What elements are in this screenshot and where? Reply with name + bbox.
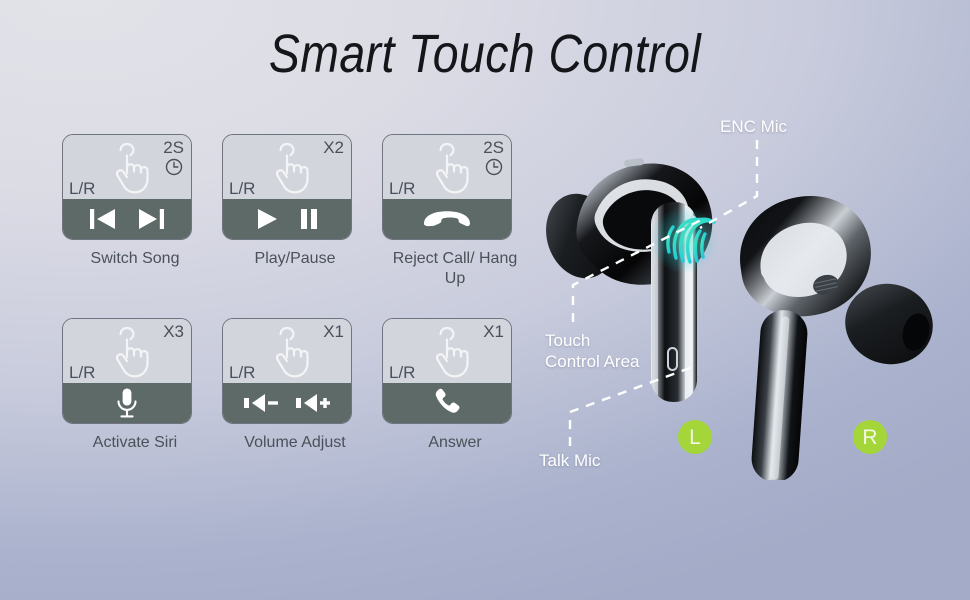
touch-fingerprint-icon [650, 206, 718, 274]
badge-label: 2S [483, 138, 504, 157]
card-bottom [383, 383, 511, 423]
card-body: X3 L/R [62, 318, 192, 424]
card-bottom [63, 383, 191, 423]
badge-tap-count: X2 [323, 138, 344, 157]
callout-touch-control-area: Touch Control Area [545, 330, 640, 372]
card-body: X1 L/R [222, 318, 352, 424]
badge-label: X1 [483, 322, 504, 341]
badge-duration: 2S [163, 138, 184, 177]
card-caption: Volume Adjust [222, 433, 368, 453]
badge-duration: 2S [483, 138, 504, 177]
clock-icon [484, 157, 504, 177]
card-body: X2 L/R [222, 134, 352, 240]
lr-label: L/R [389, 179, 415, 198]
card-bottom [383, 199, 511, 239]
tap-hand-icon [421, 325, 481, 381]
clock-icon [164, 157, 184, 177]
lr-label: L/R [69, 363, 95, 382]
card-bottom [223, 199, 351, 239]
gesture-card-reject-call[interactable]: 2S [382, 134, 542, 289]
card-caption: Reject Call/ Hang Up [382, 249, 528, 289]
card-bottom [63, 199, 191, 239]
infographic-canvas: Smart Touch Control 2S [0, 0, 970, 600]
card-caption: Play/Pause [222, 249, 368, 269]
card-top: X2 L/R [223, 135, 351, 199]
lr-label: L/R [69, 179, 95, 198]
gesture-card-switch-song[interactable]: 2S [62, 134, 222, 289]
gesture-card-grid: 2S [62, 134, 542, 453]
card-top: 2S [63, 135, 191, 199]
gesture-card-volume-adjust[interactable]: X1 L/R [222, 318, 382, 453]
tap-hand-icon [261, 325, 321, 381]
badge-tap-count: X3 [163, 322, 184, 341]
play-icon [252, 206, 282, 232]
volume-down-icon [242, 391, 280, 415]
card-body: 2S [62, 134, 192, 240]
next-track-icon [134, 206, 168, 232]
gesture-card-row-2: X3 L/R [62, 318, 542, 453]
lr-label: L/R [229, 179, 255, 198]
lr-label: L/R [229, 363, 255, 382]
previous-track-icon [86, 206, 120, 232]
hang-up-icon [420, 206, 474, 232]
badge-tap-count: X1 [323, 322, 344, 341]
right-earbud-badge: R [853, 420, 887, 454]
card-bottom [223, 383, 351, 423]
tap-hand-icon [261, 141, 321, 197]
callout-talk-mic: Talk Mic [539, 450, 600, 471]
gesture-card-row-1: 2S [62, 134, 542, 289]
card-top: X1 L/R [383, 319, 511, 383]
tap-hand-icon [101, 141, 161, 197]
card-top: X1 L/R [223, 319, 351, 383]
microphone-icon [114, 387, 140, 419]
page-title: Smart Touch Control [68, 22, 902, 86]
gesture-card-answer[interactable]: X1 L/R [382, 318, 542, 453]
earbuds-illustration [545, 140, 970, 480]
tap-hand-icon [101, 325, 161, 381]
card-caption: Activate Siri [62, 433, 208, 453]
lr-label: L/R [389, 363, 415, 382]
card-caption: Answer [382, 433, 528, 453]
right-earbud [740, 196, 941, 480]
callout-enc-mic: ENC Mic [720, 116, 787, 137]
gesture-card-play-pause[interactable]: X2 L/R [222, 134, 382, 289]
volume-up-icon [294, 391, 332, 415]
phone-handset-icon [432, 388, 462, 418]
card-top: X3 L/R [63, 319, 191, 383]
card-top: 2S [383, 135, 511, 199]
card-body: 2S [382, 134, 512, 240]
badge-tap-count: X1 [483, 322, 504, 341]
badge-label: 2S [163, 138, 184, 157]
badge-label: X2 [323, 138, 344, 157]
tap-hand-icon [421, 141, 481, 197]
pause-icon [296, 206, 322, 232]
left-earbud-badge: L [678, 420, 712, 454]
card-caption: Switch Song [62, 249, 208, 269]
card-body: X1 L/R [382, 318, 512, 424]
badge-label: X1 [323, 322, 344, 341]
badge-label: X3 [163, 322, 184, 341]
gesture-card-activate-siri[interactable]: X3 L/R [62, 318, 222, 453]
